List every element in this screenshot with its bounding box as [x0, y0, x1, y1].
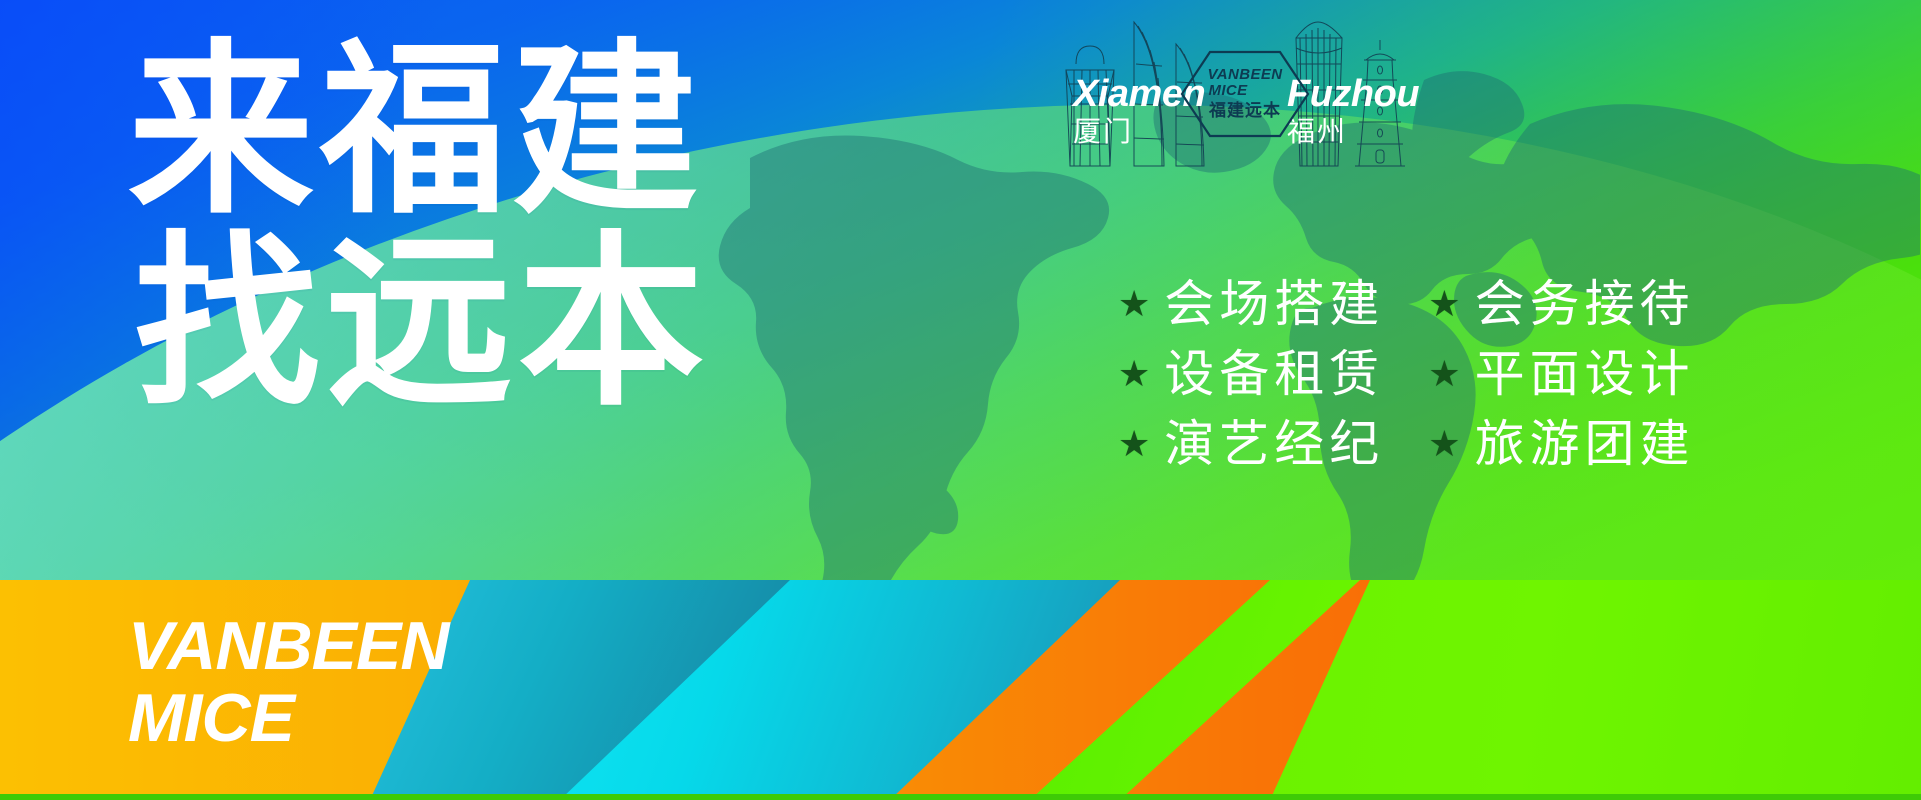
wordmark-line-2: MICE	[128, 682, 448, 754]
star-bullet-icon: ★	[1118, 356, 1150, 392]
service-item: ★ 旅游团建	[1428, 416, 1694, 472]
diagonal-band-green-2	[1270, 580, 1921, 800]
promo-banner: 来福建 找远本	[0, 0, 1921, 800]
hex-logo-en-line2: MICE	[1208, 83, 1247, 99]
service-label: 旅游团建	[1475, 416, 1695, 472]
services-list: ★ 会场搭建 ★ 会务接待 ★ 设备租赁 ★ 平面设计 ★ 演艺经纪 ★ 旅游团…	[1118, 276, 1695, 472]
star-bullet-icon: ★	[1118, 426, 1150, 462]
hex-logo-en-line1: VANBEEN	[1207, 67, 1282, 83]
service-label: 会场搭建	[1164, 276, 1384, 332]
service-item: ★ 会场搭建	[1118, 276, 1384, 332]
star-bullet-icon: ★	[1428, 426, 1460, 462]
banner-top-area: 来福建 找远本	[0, 0, 1921, 580]
star-bullet-icon: ★	[1428, 356, 1460, 392]
banner-bottom-strip: VANBEEN MICE	[0, 580, 1921, 800]
star-bullet-icon: ★	[1118, 286, 1150, 322]
service-item: ★ 平面设计	[1428, 346, 1694, 402]
service-item: ★ 会务接待	[1428, 276, 1694, 332]
hex-logo-cn: 福建远本	[1209, 101, 1281, 121]
service-label: 平面设计	[1475, 346, 1695, 402]
service-label: 演艺经纪	[1164, 416, 1384, 472]
wordmark-line-1: VANBEEN	[128, 608, 448, 684]
star-bullet-icon: ★	[1428, 286, 1460, 322]
bottom-accent-line	[0, 794, 1921, 800]
service-label: 会务接待	[1475, 276, 1695, 332]
service-item: ★ 设备租赁	[1118, 346, 1384, 402]
banner-headline: 来福建 找远本	[128, 36, 710, 420]
vanbeen-hex-logo: VANBEEN MICE 福建远本	[1180, 50, 1310, 138]
headline-line-2: 找远本	[134, 228, 710, 420]
service-item: ★ 演艺经纪	[1118, 416, 1384, 472]
brand-wordmark: VANBEEN MICE	[128, 610, 448, 754]
headline-line-1: 来福建	[128, 36, 710, 228]
service-label: 设备租赁	[1164, 346, 1384, 402]
